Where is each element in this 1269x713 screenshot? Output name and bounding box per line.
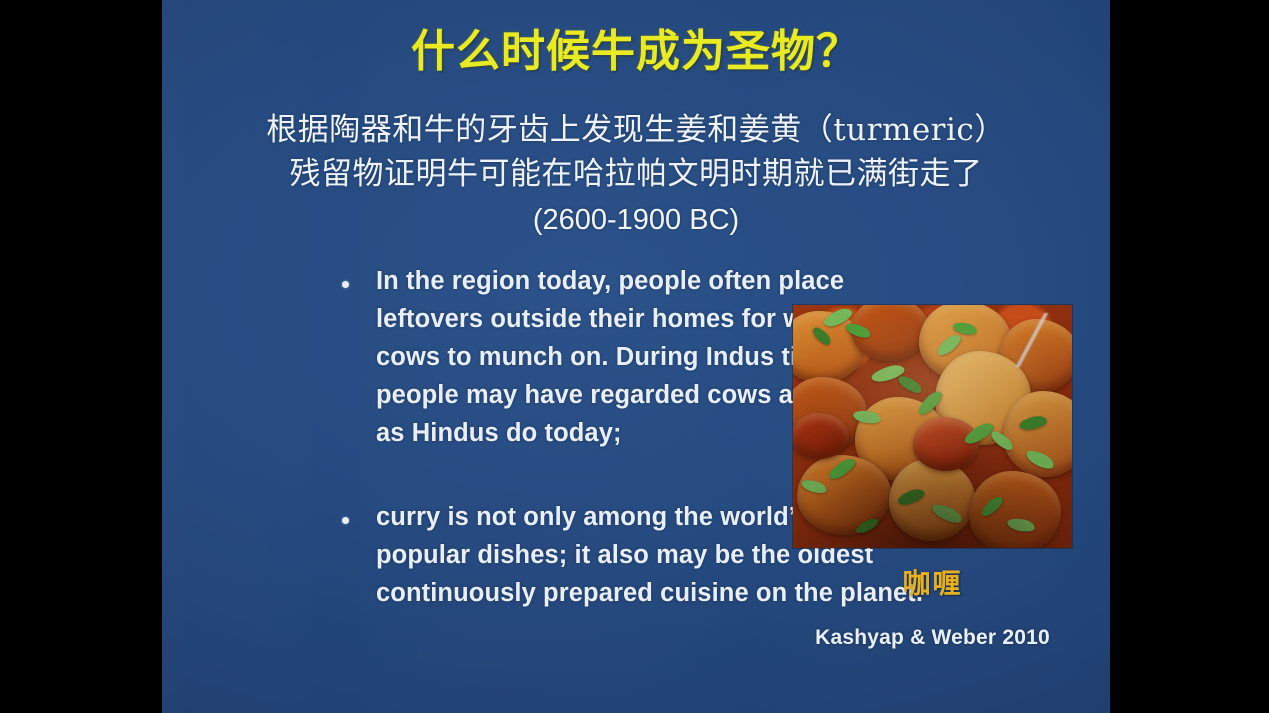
photo-citation: Kashyap & Weber 2010 (793, 626, 1072, 650)
bullet-dot-icon (342, 498, 376, 529)
curry-dish-photo (793, 305, 1072, 548)
subtitle-line-1: 根据陶器和牛的牙齿上发现生姜和姜黄（turmeric） (188, 108, 1084, 152)
slide-title: 什么时候牛成为圣物？ (162, 27, 1110, 76)
video-frame: 什么时候牛成为圣物？ 根据陶器和牛的牙齿上发现生姜和姜黄（turmeric） 残… (0, 0, 1269, 713)
fork-reflection (1000, 313, 1066, 367)
bullet-dot-icon (342, 262, 376, 293)
photo-caption: 咖喱 (793, 562, 1072, 602)
subtitle-date-range: (2600-1900 BC) (188, 198, 1084, 242)
letterbox-bar-right (1110, 0, 1269, 713)
photo-block: 咖喱 Kashyap & Weber 2010 (793, 305, 1072, 650)
presentation-slide: 什么时候牛成为圣物？ 根据陶器和牛的牙齿上发现生姜和姜黄（turmeric） 残… (162, 0, 1110, 713)
slide-subtitle: 根据陶器和牛的牙齿上发现生姜和姜黄（turmeric） 残留物证明牛可能在哈拉帕… (188, 108, 1084, 242)
subtitle-line-2: 残留物证明牛可能在哈拉帕文明时期就已满街走了 (188, 152, 1084, 196)
letterbox-bar-left (0, 0, 162, 713)
